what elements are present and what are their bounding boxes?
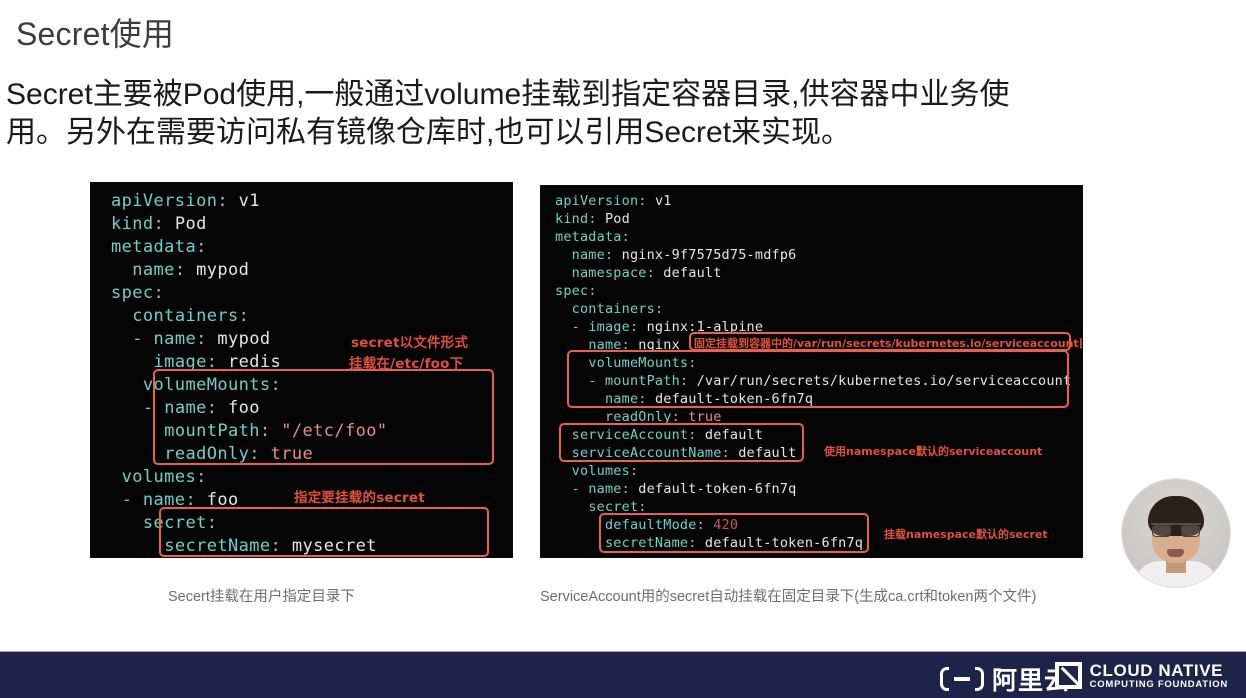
code-right-line-20: secretName: default-token-6fn7q bbox=[555, 535, 863, 551]
code-left-lines: apiVersion: v1 kind: Pod metadata: name:… bbox=[91, 183, 512, 557]
code-left-line-2: kind: Pod bbox=[111, 214, 207, 234]
code-right-line-10: volumeMounts: bbox=[555, 355, 697, 371]
caption-left: Secert挂载在用户指定目录下 bbox=[168, 585, 355, 606]
code-left-line-4: name: mypod bbox=[111, 260, 249, 280]
code-right-line-13: readOnly: true bbox=[555, 409, 722, 425]
code-left-line-10: - name: foo bbox=[111, 398, 260, 418]
bracket-left-icon bbox=[940, 667, 949, 691]
slide-root: Secret使用 Secret主要被Pod使用,一般通过volume挂载到指定容… bbox=[0, 0, 1246, 698]
cncf-line-2: COMPUTING FOUNDATION bbox=[1090, 680, 1228, 690]
code-left-line-5: spec: bbox=[111, 283, 164, 303]
code-left-line-16: secretName: mysecret bbox=[111, 536, 377, 556]
annotation-right-3: 挂载namespace默认的secret bbox=[884, 526, 1048, 542]
code-left-line-13: volumes: bbox=[111, 467, 207, 487]
bracket-right-icon bbox=[975, 667, 984, 691]
code-right-line-11: - mountPath: /var/run/secrets/kubernetes… bbox=[555, 373, 1071, 389]
code-right-line-15: serviceAccountName: default bbox=[555, 445, 797, 461]
code-right-line-16: volumes: bbox=[555, 463, 638, 479]
cncf-wordmark: CLOUD NATIVE COMPUTING FOUNDATION bbox=[1090, 662, 1228, 690]
cncf-logo: CLOUD NATIVE COMPUTING FOUNDATION bbox=[1055, 662, 1228, 690]
code-left-line-1: apiVersion: v1 bbox=[111, 191, 260, 211]
presenter-mouth bbox=[1167, 549, 1184, 557]
code-right-line-18: secret: bbox=[555, 499, 647, 515]
body-line-1: Secret主要被Pod使用,一般通过volume挂载到指定容器目录,供容器中业… bbox=[6, 76, 1221, 114]
bracket-dash-icon bbox=[954, 677, 970, 681]
cncf-mark-icon bbox=[1055, 662, 1082, 689]
code-right-line-2: kind: Pod bbox=[555, 211, 630, 227]
glasses-icon bbox=[1151, 523, 1201, 535]
annotation-left-1: secret以文件形式 bbox=[351, 331, 468, 351]
footer-bar: 阿里云 CLOUD NATIVE COMPUTING FOUNDATION bbox=[0, 651, 1246, 698]
code-left-line-3: metadata: bbox=[111, 237, 207, 257]
code-left-line-8: image: redis bbox=[111, 352, 281, 372]
code-left-line-14: - name: foo bbox=[111, 490, 239, 510]
glasses-lens-left bbox=[1152, 525, 1171, 537]
body-line-2: 用。另外在需要访问私有镜像仓库时,也可以引用Secret来实现。 bbox=[6, 114, 1221, 152]
code-left-line-11: mountPath: "/etc/foo" bbox=[111, 421, 388, 441]
code-right-line-7: containers: bbox=[555, 301, 663, 317]
caption-right: ServiceAccount用的secret自动挂载在固定目录下(生成ca.cr… bbox=[540, 585, 1036, 606]
code-right-line-12: name: default-token-6fn7q bbox=[555, 391, 813, 407]
alibaba-bracket-icon bbox=[940, 666, 984, 692]
code-right-line-9: name: nginx bbox=[555, 337, 680, 353]
code-right-line-8: - image: nginx:1-alpine bbox=[555, 319, 763, 335]
presenter-webcam bbox=[1122, 479, 1230, 587]
alibaba-cloud-logo: 阿里云 bbox=[940, 661, 1070, 697]
code-left-line-12: readOnly: true bbox=[111, 444, 313, 464]
code-right-line-5: namespace: default bbox=[555, 265, 722, 281]
annotation-right-1: 固定挂载到容器中的/var/run/secrets/kubernetes.io/… bbox=[694, 335, 1083, 351]
code-block-left: apiVersion: v1 kind: Pod metadata: name:… bbox=[90, 182, 513, 558]
code-right-line-3: metadata: bbox=[555, 229, 630, 245]
cncf-line-1: CLOUD NATIVE bbox=[1090, 662, 1228, 680]
code-right-line-17: - name: default-token-6fn7q bbox=[555, 481, 797, 497]
glasses-lens-right bbox=[1181, 525, 1200, 537]
code-right-line-19: defaultMode: 420 bbox=[555, 517, 738, 533]
code-left-line-9: volumeMounts: bbox=[111, 375, 281, 395]
annotation-right-2: 使用namespace默认的serviceaccount bbox=[824, 443, 1042, 459]
code-right-line-1: apiVersion: v1 bbox=[555, 193, 672, 209]
code-right-line-6: spec: bbox=[555, 283, 597, 299]
code-left-line-15: secret: bbox=[111, 513, 217, 533]
annotation-left-2: 挂载在/etc/foo下 bbox=[349, 352, 463, 372]
code-left-line-7: - name: mypod bbox=[111, 329, 271, 349]
code-right-line-14: serviceAccount: default bbox=[555, 427, 763, 443]
page-title: Secret使用 bbox=[16, 9, 174, 55]
code-right-lines: apiVersion: v1 kind: Pod metadata: name:… bbox=[541, 186, 1082, 557]
code-block-right: apiVersion: v1 kind: Pod metadata: name:… bbox=[540, 185, 1083, 558]
code-left-line-6: containers: bbox=[111, 306, 249, 326]
annotation-left-3: 指定要挂载的secret bbox=[294, 486, 425, 506]
code-right-line-4: name: nginx-9f7575d75-mdfp6 bbox=[555, 247, 797, 263]
body-paragraph: Secret主要被Pod使用,一般通过volume挂载到指定容器目录,供容器中业… bbox=[6, 76, 1221, 152]
